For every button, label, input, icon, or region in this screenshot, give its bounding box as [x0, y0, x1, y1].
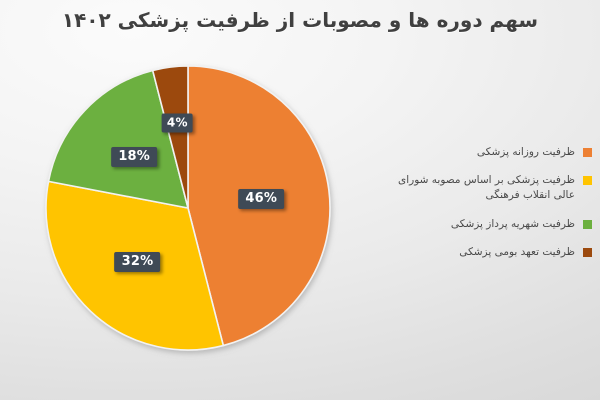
pie-slices — [46, 66, 330, 350]
chart-title: سهم دوره ها و مصوبات از ظرفیت پزشکی ۱۴۰۲ — [0, 8, 600, 32]
pie-label-slice-4: 4% — [162, 114, 193, 133]
chart-canvas: سهم دوره ها و مصوبات از ظرفیت پزشکی ۱۴۰۲… — [0, 0, 600, 400]
pie-label-slice-2: 32% — [115, 252, 161, 272]
legend-swatch-icon — [583, 220, 592, 229]
pie-svg — [46, 66, 330, 350]
pie-label-slice-3: 18% — [111, 147, 157, 167]
legend-item-local-commitment-capacity[interactable]: ظرفیت تعهد بومی پزشکی — [380, 245, 592, 260]
legend-swatch-icon — [583, 148, 592, 157]
legend-item-label: ظرفیت روزانه پزشکی — [380, 145, 575, 160]
legend-item-label: ظرفیت پزشکی بر اساس مصوبه شورای عالی انق… — [380, 173, 575, 203]
legend-item-label: ظرفیت تعهد بومی پزشکی — [380, 245, 575, 260]
legend-swatch-icon — [583, 248, 592, 257]
legend-swatch-icon — [583, 176, 592, 185]
legend-item-tuition-paying-capacity[interactable]: ظرفیت شهریه پرداز پزشکی — [380, 217, 592, 232]
pie-chart: 46% 32% 18% 4% — [46, 66, 330, 350]
legend-item-label: ظرفیت شهریه پرداز پزشکی — [380, 217, 575, 232]
pie-label-slice-1: 46% — [238, 189, 284, 209]
legend-item-daily-capacity[interactable]: ظرفیت روزانه پزشکی — [380, 145, 592, 160]
legend-item-council-approved-capacity[interactable]: ظرفیت پزشکی بر اساس مصوبه شورای عالی انق… — [380, 173, 592, 203]
chart-legend: ظرفیت روزانه پزشکی ظرفیت پزشکی بر اساس م… — [380, 145, 592, 273]
